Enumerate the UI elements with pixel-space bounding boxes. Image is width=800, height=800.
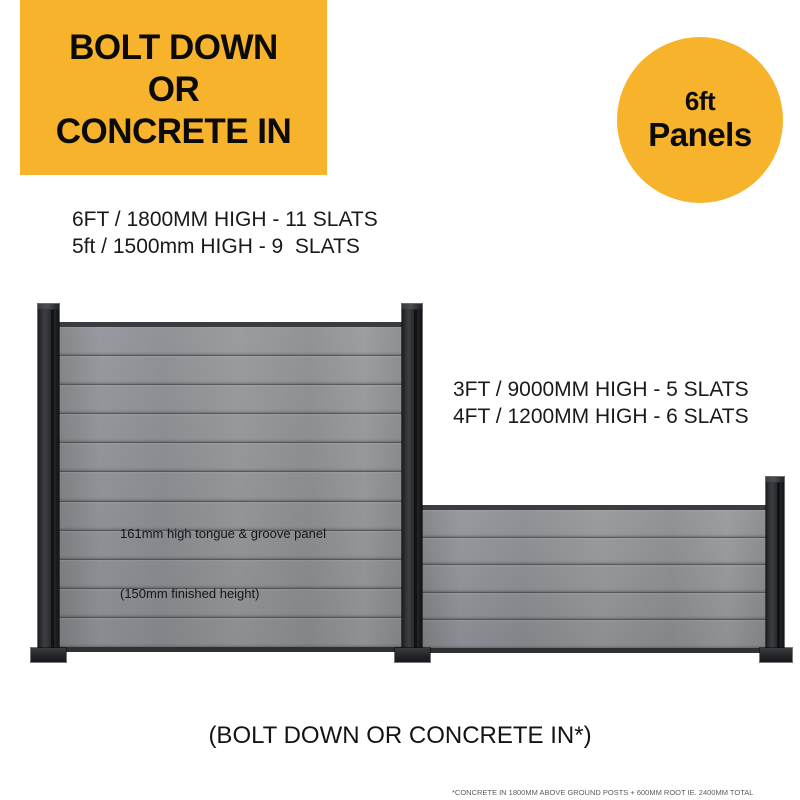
right-post — [766, 477, 784, 652]
right-post-base-plate — [760, 648, 792, 662]
short-fence-panel — [418, 505, 770, 653]
panel-slat — [58, 443, 406, 472]
bottom-title: (BOLT DOWN OR CONCRETE IN*) — [0, 722, 800, 750]
panel-slat — [58, 472, 406, 501]
middle-post-base-plate — [395, 648, 430, 662]
panel-slat — [58, 531, 406, 560]
right-post-cap — [766, 477, 784, 482]
panel-slat — [418, 565, 770, 593]
middle-post — [402, 304, 422, 652]
panel-slat — [58, 560, 406, 589]
left-post-cap — [38, 304, 59, 309]
panel-slat — [418, 538, 770, 566]
infographic-canvas: BOLT DOWN OR CONCRETE IN 6ft Panels 6FT … — [0, 0, 800, 800]
middle-post-cap — [402, 304, 422, 309]
panel-slat — [58, 327, 406, 356]
footnote-line-1: *CONCRETE IN 1800MM ABOVE GROUND POSTS +… — [452, 788, 796, 798]
panel-slat — [58, 618, 406, 647]
panel-slat — [58, 385, 406, 414]
footnote: *CONCRETE IN 1800MM ABOVE GROUND POSTS +… — [452, 768, 796, 800]
panel-slat — [418, 593, 770, 621]
panel-slat — [58, 589, 406, 618]
middle-post-groove — [414, 310, 417, 652]
left-post — [38, 304, 59, 652]
panel-slat — [58, 502, 406, 531]
panel-slat — [58, 356, 406, 385]
fence-diagram: 161mm high tongue & groove panel (150mm … — [0, 0, 800, 800]
right-post-groove — [777, 483, 780, 652]
left-post-groove — [51, 310, 54, 652]
panel-slat — [418, 510, 770, 538]
panel-slat — [58, 414, 406, 443]
panel-slat — [418, 620, 770, 648]
left-post-base-plate — [31, 648, 66, 662]
tall-fence-panel — [58, 322, 406, 652]
